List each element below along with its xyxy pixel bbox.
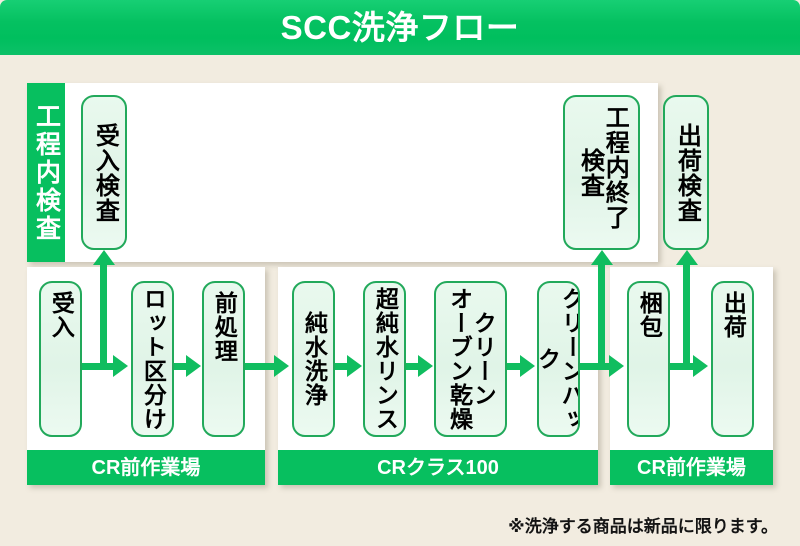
process-step-shukka[interactable]: 出荷 bbox=[711, 281, 754, 437]
process-step-konpo-label: 梱包 bbox=[637, 283, 661, 435]
process-group-pre-cr-1-footer: CR前作業場 bbox=[27, 450, 265, 485]
process-group-cr-class-100-footer-label: CRクラス100 bbox=[377, 458, 499, 478]
process-step-clean-pack-label: クリーンパック bbox=[537, 283, 580, 435]
arrow-konpo-to-shukka-head bbox=[693, 355, 708, 377]
process-step-clean-pack[interactable]: クリーンパック bbox=[537, 281, 580, 437]
arrow-lot-wake-to-maeshori-head bbox=[186, 355, 201, 377]
inspection-box-process-end[interactable]: 工程内終了 検査 bbox=[563, 95, 640, 250]
process-step-maeshori-label: 前処理 bbox=[212, 283, 236, 435]
process-group-cr-class-100-footer: CRクラス100 bbox=[278, 450, 598, 485]
arrow-to-shipping-inspection bbox=[683, 264, 690, 366]
arrow-maeshori-to-junsui bbox=[245, 363, 277, 370]
arrow-clean-oven-to-clean-pack-head bbox=[520, 355, 535, 377]
arrow-clean-pack-to-konpo bbox=[580, 363, 612, 370]
process-group-pre-cr-1-footer-label: CR前作業場 bbox=[92, 458, 201, 478]
inspection-sidebar: 工程内検査 bbox=[27, 83, 65, 262]
header-bar: SCC洗浄フロー bbox=[0, 0, 800, 55]
arrow-clean-pack-to-konpo-head bbox=[609, 355, 624, 377]
arrow-junsui-to-chojunsui-head bbox=[347, 355, 362, 377]
inspection-sidebar-label: 工程内検査 bbox=[34, 103, 59, 243]
process-step-konpo[interactable]: 梱包 bbox=[627, 281, 670, 437]
process-step-clean-oven-kanso-label-left: オーブン乾燥 bbox=[447, 283, 471, 435]
arrow-chojunsui-to-clean-oven-head bbox=[418, 355, 433, 377]
process-step-chojunsui-rinse-label: 超純水リンス bbox=[373, 283, 397, 435]
arrow-to-receiving-inspection bbox=[100, 264, 107, 366]
process-step-junsui-senjo-label: 純水洗浄 bbox=[302, 283, 326, 435]
process-step-maeshori[interactable]: 前処理 bbox=[202, 281, 245, 437]
arrow-to-shipping-inspection-head bbox=[676, 250, 698, 265]
process-step-junsui-senjo[interactable]: 純水洗浄 bbox=[292, 281, 335, 437]
process-step-clean-oven-kanso-label-right: クリーン bbox=[471, 283, 495, 435]
arrow-to-process-end-inspection-head bbox=[591, 250, 613, 265]
process-step-chojunsui-rinse[interactable]: 超純水リンス bbox=[363, 281, 406, 437]
inspection-box-receiving[interactable]: 受入検査 bbox=[81, 95, 127, 250]
inspection-box-process-end-label-left: 検査 bbox=[577, 97, 602, 248]
arrow-to-process-end-inspection bbox=[598, 264, 605, 366]
inspection-box-shipping-label: 出荷検査 bbox=[674, 97, 699, 248]
process-step-lot-wake[interactable]: ロット区分け bbox=[131, 281, 174, 437]
footnote: ※洗浄する商品は新品に限ります。 bbox=[508, 512, 778, 537]
process-step-ukeire-label: 受入 bbox=[49, 283, 73, 435]
process-group-pre-cr-2-footer-label: CR前作業場 bbox=[637, 458, 746, 478]
process-step-clean-oven-kanso[interactable]: クリーン オーブン乾燥 bbox=[434, 281, 507, 437]
arrow-ukeire-to-lot-wake bbox=[82, 363, 116, 370]
arrow-to-receiving-inspection-head bbox=[93, 250, 115, 265]
arrow-maeshori-to-junsui-head bbox=[274, 355, 289, 377]
process-step-lot-wake-label: ロット区分け bbox=[141, 283, 165, 435]
process-step-ukeire[interactable]: 受入 bbox=[39, 281, 82, 437]
inspection-box-process-end-label-right: 工程内終了 bbox=[602, 97, 627, 248]
inspection-box-shipping[interactable]: 出荷検査 bbox=[663, 95, 709, 250]
inspection-box-receiving-label: 受入検査 bbox=[92, 97, 117, 248]
arrow-ukeire-to-lot-wake-head bbox=[113, 355, 128, 377]
process-group-pre-cr-2-footer: CR前作業場 bbox=[610, 450, 773, 485]
page-title: SCC洗浄フロー bbox=[281, 11, 520, 44]
process-step-shukka-label: 出荷 bbox=[721, 283, 745, 435]
